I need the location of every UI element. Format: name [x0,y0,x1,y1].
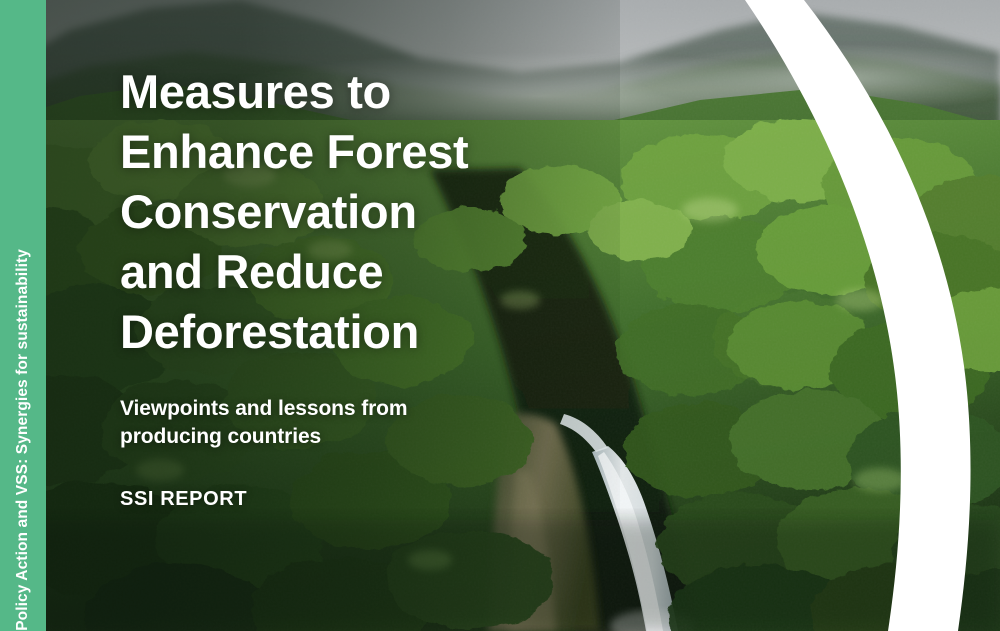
title-line: Deforestation [120,305,419,358]
report-type-label: SSI REPORT [120,488,590,511]
page-subtitle: Viewpoints and lessons from producing co… [120,395,590,451]
subtitle-line: Viewpoints and lessons from [120,397,407,420]
spine-label: Policy Action and VSS: Synergies for sus… [0,231,46,631]
page-title: Measures to Enhance Forest Conservation … [120,62,590,362]
cover-text-block: Measures to Enhance Forest Conservation … [120,62,590,511]
title-line: Conservation [120,185,417,238]
title-line: Measures to [120,65,391,118]
title-line: Enhance Forest [120,125,468,178]
report-cover: Policy Action and VSS: Synergies for sus… [0,0,1000,631]
subtitle-line: producing countries [120,425,321,448]
title-line: and Reduce [120,245,383,298]
green-spine-bar: Policy Action and VSS: Synergies for sus… [0,0,46,631]
